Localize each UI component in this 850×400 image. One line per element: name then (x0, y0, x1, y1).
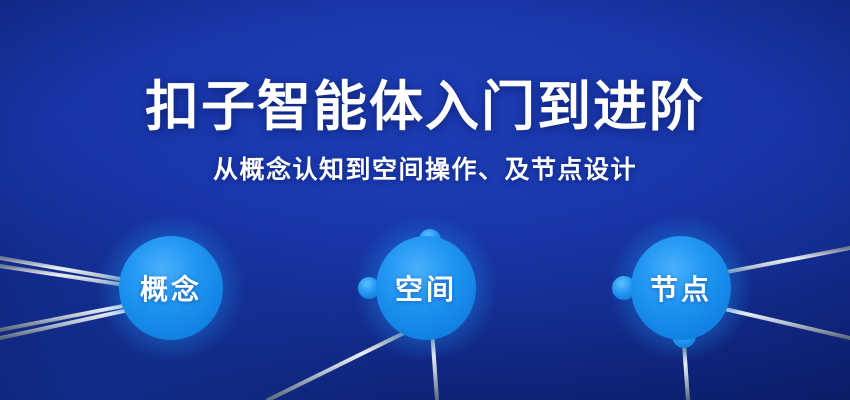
node-network-graphic (0, 0, 850, 400)
node-circle-concept[interactable] (119, 236, 223, 340)
course-banner: 扣子智能体入门到进阶 从概念认知到空间操作、及节点设计 概念空间节点 (0, 0, 850, 400)
node-circle-space[interactable] (376, 236, 476, 340)
node-circle-node[interactable] (631, 236, 731, 340)
